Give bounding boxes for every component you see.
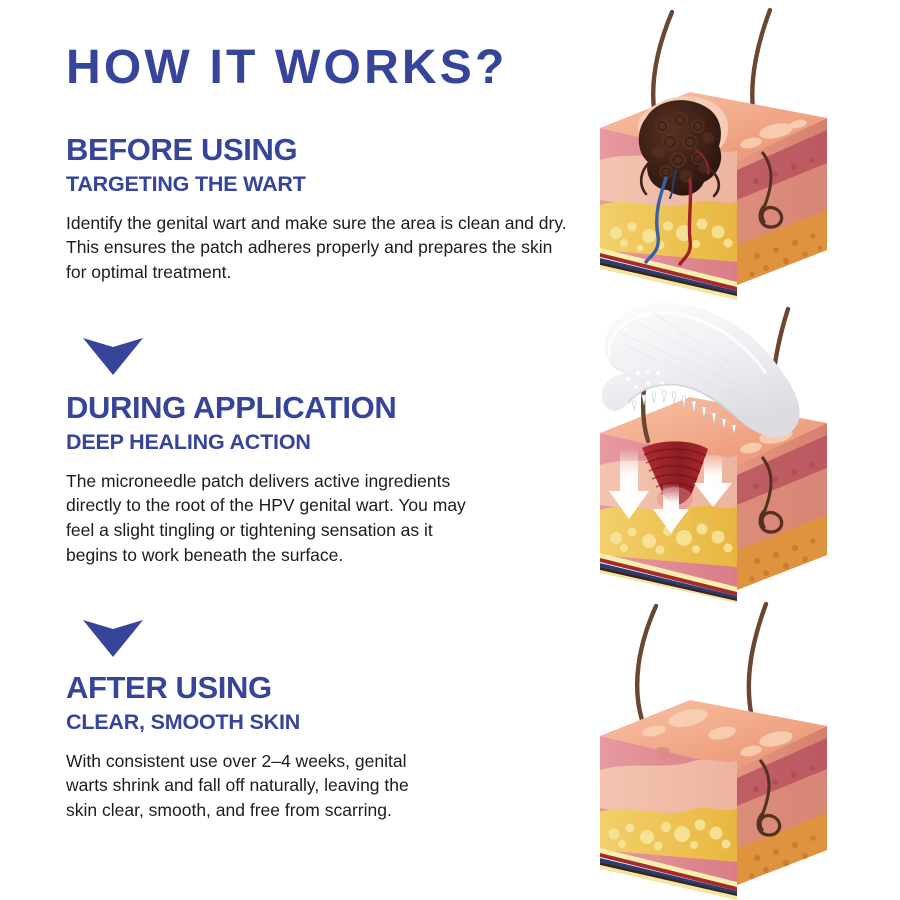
chevron-down-icon bbox=[82, 336, 144, 376]
skin-cross-section-with-wart bbox=[580, 0, 900, 300]
infographic-page: HOW IT WORKS? BEFORE USING TARGETING THE… bbox=[0, 0, 900, 900]
text-column: HOW IT WORKS? BEFORE USING TARGETING THE… bbox=[66, 0, 586, 900]
step-1-subheading: TARGETING THE WART bbox=[66, 173, 586, 197]
illustration-column bbox=[580, 0, 900, 900]
step-before-using: BEFORE USING TARGETING THE WART Identify… bbox=[66, 134, 586, 285]
step-3-subheading: CLEAR, SMOOTH SKIN bbox=[66, 711, 586, 735]
step-3-body: With consistent use over 2–4 weeks, geni… bbox=[66, 749, 426, 824]
chevron-down-icon bbox=[82, 618, 144, 658]
skin-cross-section-with-microneedle-patch bbox=[580, 293, 900, 603]
step-3-heading: AFTER USING bbox=[66, 672, 586, 705]
step-2-heading: DURING APPLICATION bbox=[66, 392, 586, 425]
step-1-body: Identify the genital wart and make sure … bbox=[66, 211, 574, 286]
page-title: HOW IT WORKS? bbox=[66, 44, 508, 92]
skin-cross-section-healthy bbox=[580, 600, 900, 900]
step-during-application: DURING APPLICATION DEEP HEALING ACTION T… bbox=[66, 392, 586, 568]
step-after-using: AFTER USING CLEAR, SMOOTH SKIN With cons… bbox=[66, 672, 586, 823]
step-1-heading: BEFORE USING bbox=[66, 134, 586, 167]
step-2-body: The microneedle patch delivers active in… bbox=[66, 469, 466, 568]
step-2-subheading: DEEP HEALING ACTION bbox=[66, 431, 586, 455]
